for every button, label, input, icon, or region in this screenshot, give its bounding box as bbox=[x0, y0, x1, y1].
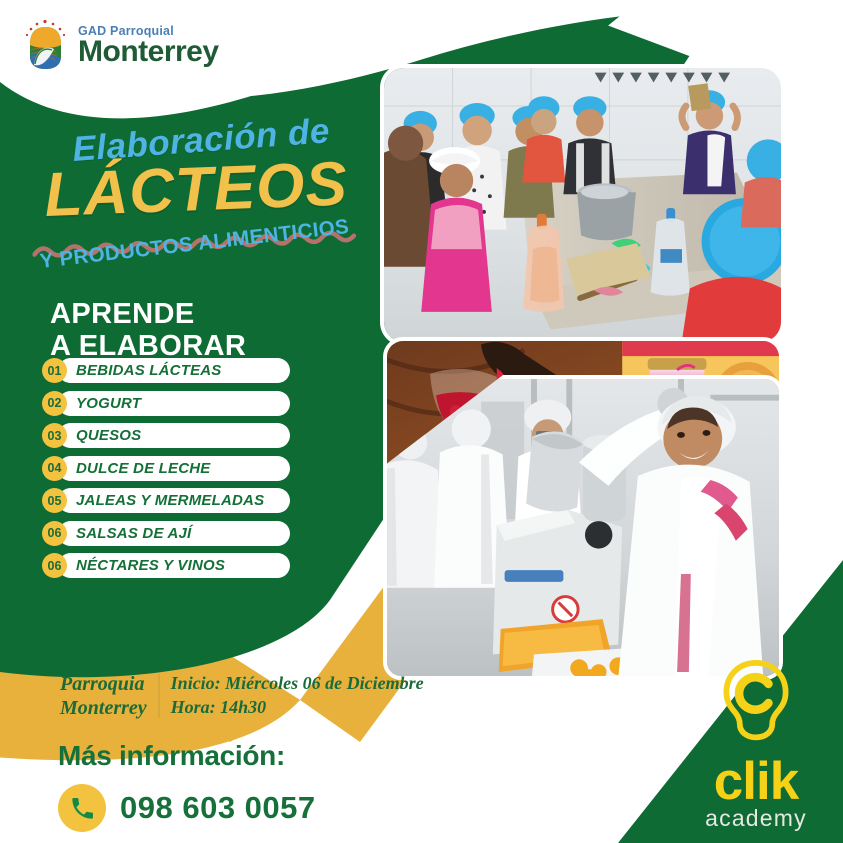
event-place-line1: Parroquia bbox=[60, 672, 147, 696]
gad-logo: GAD Parroquial Monterrey bbox=[22, 14, 222, 76]
event-place: Parroquia Monterrey bbox=[60, 672, 147, 721]
contact-phone-row[interactable]: 098 603 0057 bbox=[58, 784, 316, 832]
gad-emblem-icon bbox=[22, 18, 69, 73]
headline-line2: LÁCTEOS bbox=[43, 148, 349, 231]
photo-food-processing-lab bbox=[383, 375, 783, 680]
topic-label: YOGURT bbox=[76, 395, 141, 412]
topic-item: 05JALEAS Y MERMELADAS bbox=[42, 488, 302, 513]
vertical-divider bbox=[158, 674, 160, 718]
clik-academy-logo: clik academy bbox=[686, 655, 826, 830]
topic-number-badge: 01 bbox=[42, 358, 67, 383]
topic-label: JALEAS Y MERMELADAS bbox=[76, 492, 264, 509]
event-details: Parroquia Monterrey Inicio: Miércoles 06… bbox=[60, 672, 424, 721]
topic-item: 03QUESOS bbox=[42, 423, 302, 448]
clik-subtitle: academy bbox=[686, 807, 826, 830]
phone-handset-icon bbox=[58, 784, 106, 832]
topics-list: 01BEBIDAS LÁCTEAS02YOGURT03QUESOS04DULCE… bbox=[42, 358, 302, 586]
event-place-line2: Monterrey bbox=[60, 696, 147, 720]
topic-item: 02YOGURT bbox=[42, 391, 302, 416]
topic-number-badge: 03 bbox=[42, 423, 67, 448]
topic-label: BEBIDAS LÁCTEAS bbox=[76, 362, 222, 379]
more-info-label: Más información: bbox=[58, 740, 285, 772]
topic-number-badge: 02 bbox=[42, 391, 67, 416]
lightbulb-c-icon bbox=[686, 655, 826, 756]
event-schedule: Inicio: Miércoles 06 de Diciembre Hora: … bbox=[171, 672, 424, 720]
topic-number-badge: 04 bbox=[42, 456, 67, 481]
topic-item: 04DULCE DE LECHE bbox=[42, 456, 302, 481]
topic-item: 06SALSAS DE AJÍ bbox=[42, 521, 302, 546]
section-heading: APRENDE A ELABORAR bbox=[50, 298, 246, 363]
topic-item: 06NÉCTARES Y VINOS bbox=[42, 553, 302, 578]
topic-item: 01BEBIDAS LÁCTEAS bbox=[42, 358, 302, 383]
topic-label: NÉCTARES Y VINOS bbox=[76, 557, 225, 574]
headline: Elaboración de LÁCTEOS Y PRODUCTOS ALIME… bbox=[46, 126, 386, 286]
event-time: Hora: 14h30 bbox=[171, 696, 424, 720]
phone-number[interactable]: 098 603 0057 bbox=[120, 790, 316, 826]
photo-dairy-workshop-group bbox=[380, 64, 785, 346]
topic-label: QUESOS bbox=[76, 427, 141, 444]
topic-label: DULCE DE LECHE bbox=[76, 460, 210, 477]
section-heading-line1: APRENDE bbox=[50, 298, 246, 330]
topic-number-badge: 06 bbox=[42, 553, 67, 578]
topic-label: SALSAS DE AJÍ bbox=[76, 525, 191, 542]
topic-number-badge: 06 bbox=[42, 521, 67, 546]
event-start-date: Inicio: Miércoles 06 de Diciembre bbox=[171, 672, 424, 696]
flyer-canvas: GAD Parroquial Monterrey Elaboración de … bbox=[0, 0, 843, 843]
topic-number-badge: 05 bbox=[42, 488, 67, 513]
org-name: Monterrey bbox=[78, 37, 219, 67]
clik-wordmark: clik bbox=[686, 758, 826, 806]
